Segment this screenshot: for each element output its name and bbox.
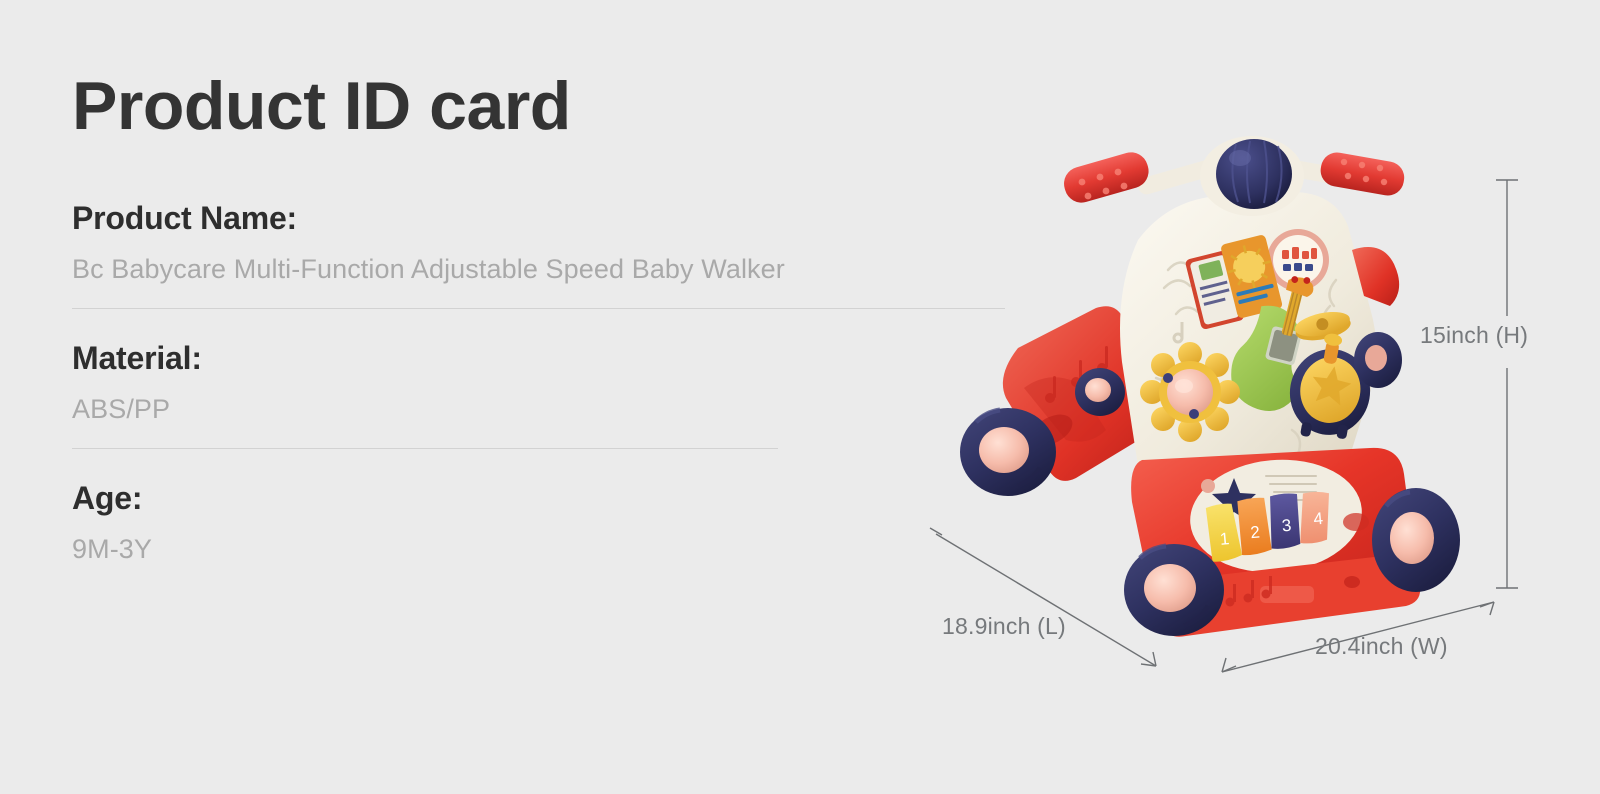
handlebar-grip-left[interactable] [1060, 148, 1153, 206]
dimension-label-height: 15inch (H) [1420, 322, 1528, 349]
handlebar-assembly [1060, 136, 1407, 216]
wheel-front-right [1372, 488, 1460, 592]
piano-key-label: 2 [1250, 522, 1261, 542]
spec-row-product-name: Product Name: Bc Babycare Multi-Function… [72, 198, 1032, 309]
divider [72, 448, 778, 449]
product-showcase: 1 2 3 4 [900, 130, 1600, 750]
spec-label-age: Age: [72, 478, 1032, 518]
baby-walker-product-image: 1 2 3 4 [900, 130, 1520, 650]
spec-value-product-name: Bc Babycare Multi-Function Adjustable Sp… [72, 252, 1032, 287]
page-title: Product ID card [72, 72, 1032, 140]
sunflower-mirror[interactable] [1140, 342, 1240, 442]
divider [72, 308, 1005, 309]
spec-value-material: ABS/PP [72, 392, 1032, 427]
spec-value-age: 9M-3Y [72, 532, 1032, 567]
piano-key[interactable]: 3 [1267, 493, 1302, 550]
spec-row-material: Material: ABS/PP [72, 338, 1032, 449]
spec-row-age: Age: 9M-3Y [72, 478, 1032, 567]
wheel-upper-right [1354, 332, 1402, 388]
navy-sphere[interactable] [1216, 139, 1292, 209]
dimension-label-length: 18.9inch (L) [942, 613, 1066, 640]
piano-key-label: 3 [1281, 516, 1292, 536]
piano-key-label: 4 [1313, 509, 1324, 529]
wheel-rear-right [1124, 544, 1224, 636]
handlebar-grip-right[interactable] [1318, 150, 1407, 198]
wheel-front-left [1075, 368, 1125, 416]
spec-label-product-name: Product Name: [72, 198, 1032, 238]
piano-key-label: 1 [1219, 529, 1230, 549]
wheel-rear-left [960, 408, 1056, 496]
dimension-label-width: 20.4inch (W) [1315, 633, 1448, 660]
product-id-card-panel: Product ID card Product Name: Bc Babycar… [72, 72, 1032, 567]
spec-label-material: Material: [72, 338, 1032, 378]
